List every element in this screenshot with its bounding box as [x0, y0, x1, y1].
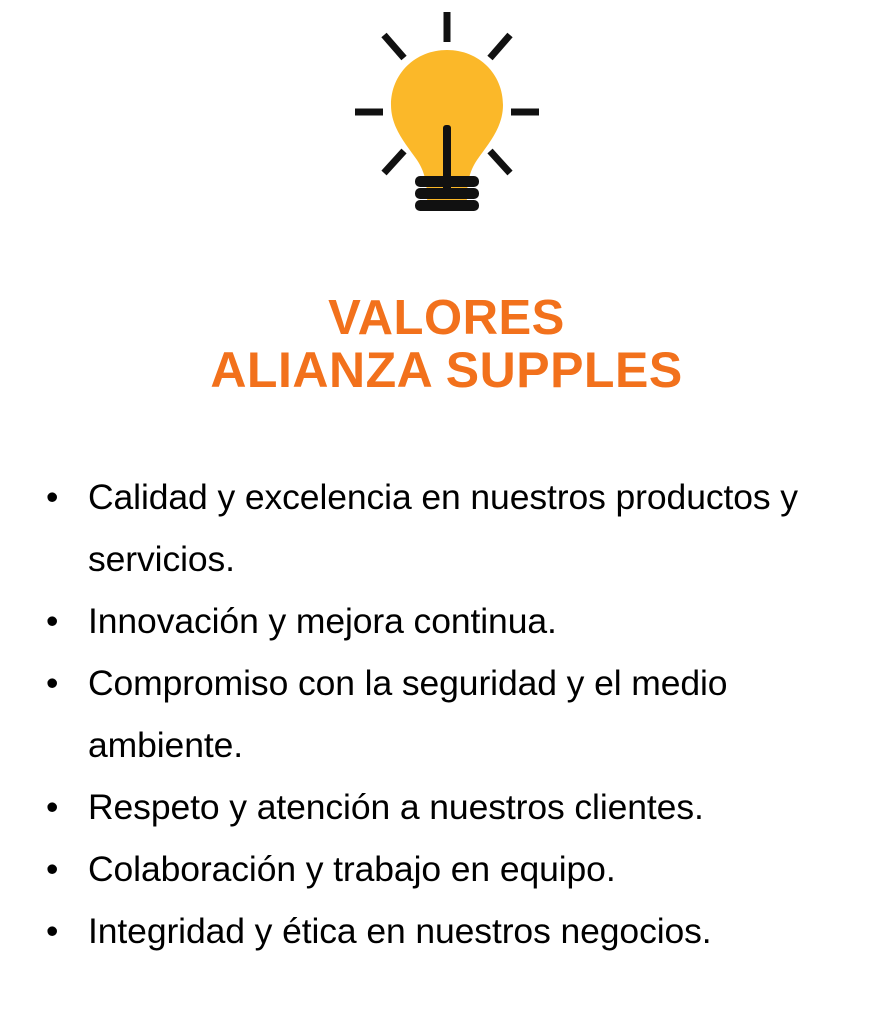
bullet-point-icon: • — [46, 900, 66, 962]
bullet-point-icon: • — [46, 590, 66, 652]
list-item: • Colaboración y trabajo en equipo. — [44, 838, 861, 900]
bulb-base-ring — [415, 200, 479, 211]
list-item-label: Colaboración y trabajo en equipo. — [88, 838, 861, 900]
bulb-base-ring — [415, 176, 479, 187]
list-item: • Integridad y ética en nuestros negocio… — [44, 900, 861, 962]
bullet-point-icon: • — [46, 776, 66, 838]
title-line-1: VALORES — [0, 292, 893, 344]
lightbulb-graphic — [0, 8, 893, 230]
list-item: • Compromiso con la seguridad y el medio… — [44, 652, 861, 776]
values-list: • Calidad y excelencia en nuestros produ… — [0, 466, 893, 962]
title-line-2: ALIANZA SUPPLES — [0, 344, 893, 398]
list-item: • Respeto y atención a nuestros clientes… — [44, 776, 861, 838]
list-item-label: Integridad y ética en nuestros negocios. — [88, 900, 861, 962]
bullet-point-icon: • — [46, 466, 66, 528]
bullet-point-icon: • — [46, 838, 66, 900]
values-slide: VALORES ALIANZA SUPPLES • Calidad y exce… — [0, 0, 893, 1024]
bullet-point-icon: • — [46, 652, 66, 714]
slide-title: VALORES ALIANZA SUPPLES — [0, 292, 893, 398]
list-item-label: Respeto y atención a nuestros clientes. — [88, 776, 861, 838]
bulb-base-ring — [415, 188, 479, 199]
list-item: • Calidad y excelencia en nuestros produ… — [44, 466, 861, 590]
list-item-label: Compromiso con la seguridad y el medio a… — [88, 652, 861, 776]
list-item: • Innovación y mejora continua. — [44, 590, 861, 652]
list-item-label: Calidad y excelencia en nuestros product… — [88, 466, 861, 590]
lightbulb-icon — [347, 8, 547, 223]
list-item-label: Innovación y mejora continua. — [88, 590, 861, 652]
